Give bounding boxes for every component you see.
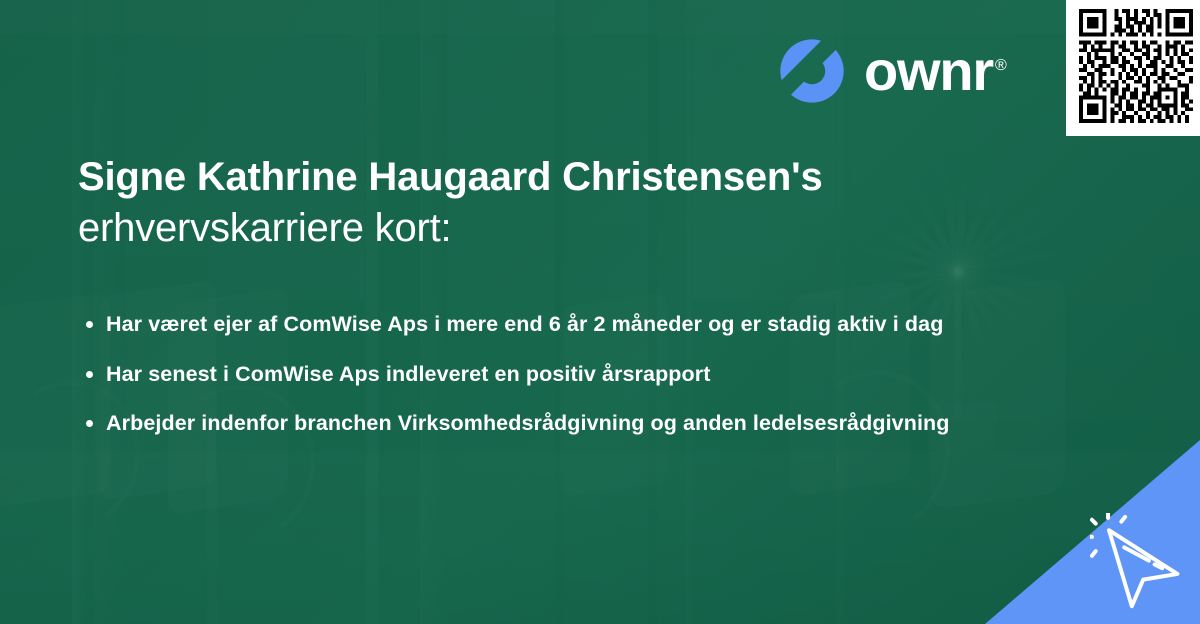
list-item: Har senest i ComWise Aps indleveret en p…: [78, 358, 958, 391]
career-card: ownr®: [0, 0, 1200, 624]
page-subtitle: erhvervskarriere kort:: [78, 206, 451, 250]
list-item: Arbejder indenfor branchen Virksomhedsrå…: [78, 407, 958, 440]
person-name: Signe Kathrine Haugaard Christensen's: [78, 155, 823, 199]
brand-logo[interactable]: ownr®: [779, 38, 1007, 104]
list-item-text: Arbejder indenfor branchen Virksomhedsrå…: [106, 411, 950, 435]
list-item-text: Har senest i ComWise Aps indleveret en p…: [106, 362, 711, 386]
qr-code[interactable]: [1066, 0, 1200, 136]
registered-mark: ®: [995, 57, 1007, 74]
ownr-circle-slash-logo-icon: [779, 38, 845, 104]
career-facts-list: Har været ejer af ComWise Aps i mere end…: [78, 308, 958, 457]
page-title: Signe Kathrine Haugaard Christensen's er…: [78, 152, 1038, 254]
list-item: Har været ejer af ComWise Aps i mere end…: [78, 308, 958, 341]
brand-name: ownr®: [864, 43, 1007, 99]
click-cursor-icon: [1090, 513, 1185, 613]
list-item-text: Har været ejer af ComWise Aps i mere end…: [106, 312, 943, 336]
